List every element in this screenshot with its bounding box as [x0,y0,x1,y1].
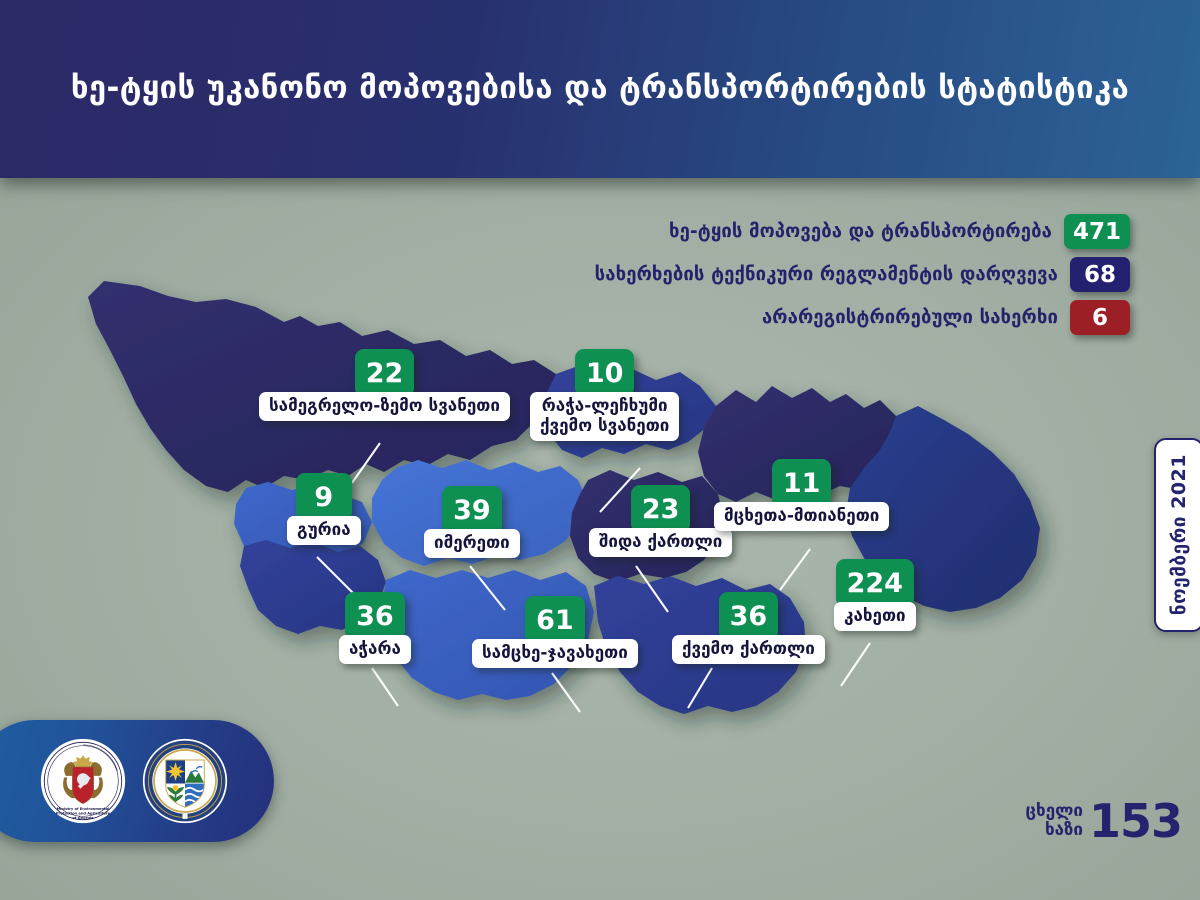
map-marker-guria[interactable]: 9 გურია [287,473,361,545]
marker-value: 10 [575,349,635,397]
marker-label: სამეგრელო-ზემო სვანეთი [259,392,510,421]
legend-item-sawmill-violation: სახერხების ტექნიკური რეგლამენტის დარღვევ… [595,257,1130,292]
marker-label: შიდა ქართლი [589,528,732,557]
svg-text:Protection and Agriculture: Protection and Agriculture [56,812,111,816]
page-title: ხე-ტყის უკანონო მოპოვებისა და ტრანსპორტი… [0,70,1200,106]
hotline-words: ცხელი ხაზი [1025,803,1083,839]
date-tab: ნოემბერი 2021 [1154,438,1200,632]
marker-value: 11 [772,459,832,507]
environmental-supervision-emblem-icon [142,738,228,824]
marker-value: 36 [719,592,779,640]
logo-bar: Ministry of Environmental Protection and… [0,720,274,842]
infographic-canvas: ხე-ტყის უკანონო მოპოვებისა და ტრანსპორტი… [0,0,1200,900]
legend-label: სახერხების ტექნიკური რეგლამენტის დარღვევ… [595,264,1058,285]
map-marker-racha[interactable]: 10 რაჭა-ლეჩხუმი ქვემო სვანეთი [530,349,679,441]
marker-value: 22 [355,349,415,397]
svg-text:Ministry of Environmental: Ministry of Environmental [57,807,110,811]
marker-label: აჭარა [339,635,411,664]
map-marker-adjara[interactable]: 36 აჭარა [339,592,411,664]
marker-value: 224 [836,559,914,607]
legend-value-badge: 68 [1070,257,1130,292]
marker-label: კახეთი [834,602,916,631]
marker-value: 61 [525,596,585,644]
legend-value-badge: 6 [1070,300,1130,335]
svg-text:of Georgia: of Georgia [72,816,94,820]
map-marker-samegrelo[interactable]: 22 სამეგრელო-ზემო სვანეთი [259,349,510,421]
map-marker-samtskhe[interactable]: 61 სამცხე-ჯავახეთი [472,596,638,668]
legend-item-unregistered-sawmill: არარეგისტრირებული სახერხი 6 [762,300,1130,335]
marker-value: 36 [345,592,405,640]
marker-label: გურია [287,516,361,545]
hotline-word-1: ცხელი [1025,803,1083,820]
legend-value-badge: 471 [1064,214,1130,249]
header-band: ხე-ტყის უკანონო მოპოვებისა და ტრანსპორტი… [0,0,1200,178]
legend-label: ხე-ტყის მოპოვება და ტრანსპორტირება [669,221,1052,242]
marker-value: 23 [631,485,691,533]
hotline-number: 153 [1089,800,1182,842]
hotline: ცხელი ხაზი 153 [1025,800,1182,842]
legend-label: არარეგისტრირებული სახერხი [762,307,1058,328]
hotline-word-2: ხაზი [1025,822,1083,839]
marker-label: სამცხე-ჯავახეთი [472,639,638,668]
marker-label: მცხეთა-მთიანეთი [714,502,889,531]
marker-value: 9 [296,473,352,521]
map-marker-shida-kartli[interactable]: 23 შიდა ქართლი [589,485,732,557]
legend-item-logging-transport: ხე-ტყის მოპოვება და ტრანსპორტირება 471 [669,214,1130,249]
date-tab-label: ნოემბერი 2021 [1168,454,1190,615]
marker-label: რაჭა-ლეჩხუმი ქვემო სვანეთი [530,392,679,441]
marker-value: 39 [442,486,502,534]
map-marker-imereti[interactable]: 39 იმერეთი [424,486,520,558]
map-marker-kakheti[interactable]: 224 კახეთი [834,559,916,631]
map-marker-kvemo-kartli[interactable]: 36 ქვემო ქართლი [672,592,825,664]
map-marker-mtskheta[interactable]: 11 მცხეთა-მთიანეთი [714,459,889,531]
marker-label: ქვემო ქართლი [672,635,825,664]
ministry-of-environment-emblem-icon: Ministry of Environmental Protection and… [40,738,126,824]
marker-label: იმერეთი [424,529,520,558]
legend: ხე-ტყის მოპოვება და ტრანსპორტირება 471 ს… [595,214,1130,335]
